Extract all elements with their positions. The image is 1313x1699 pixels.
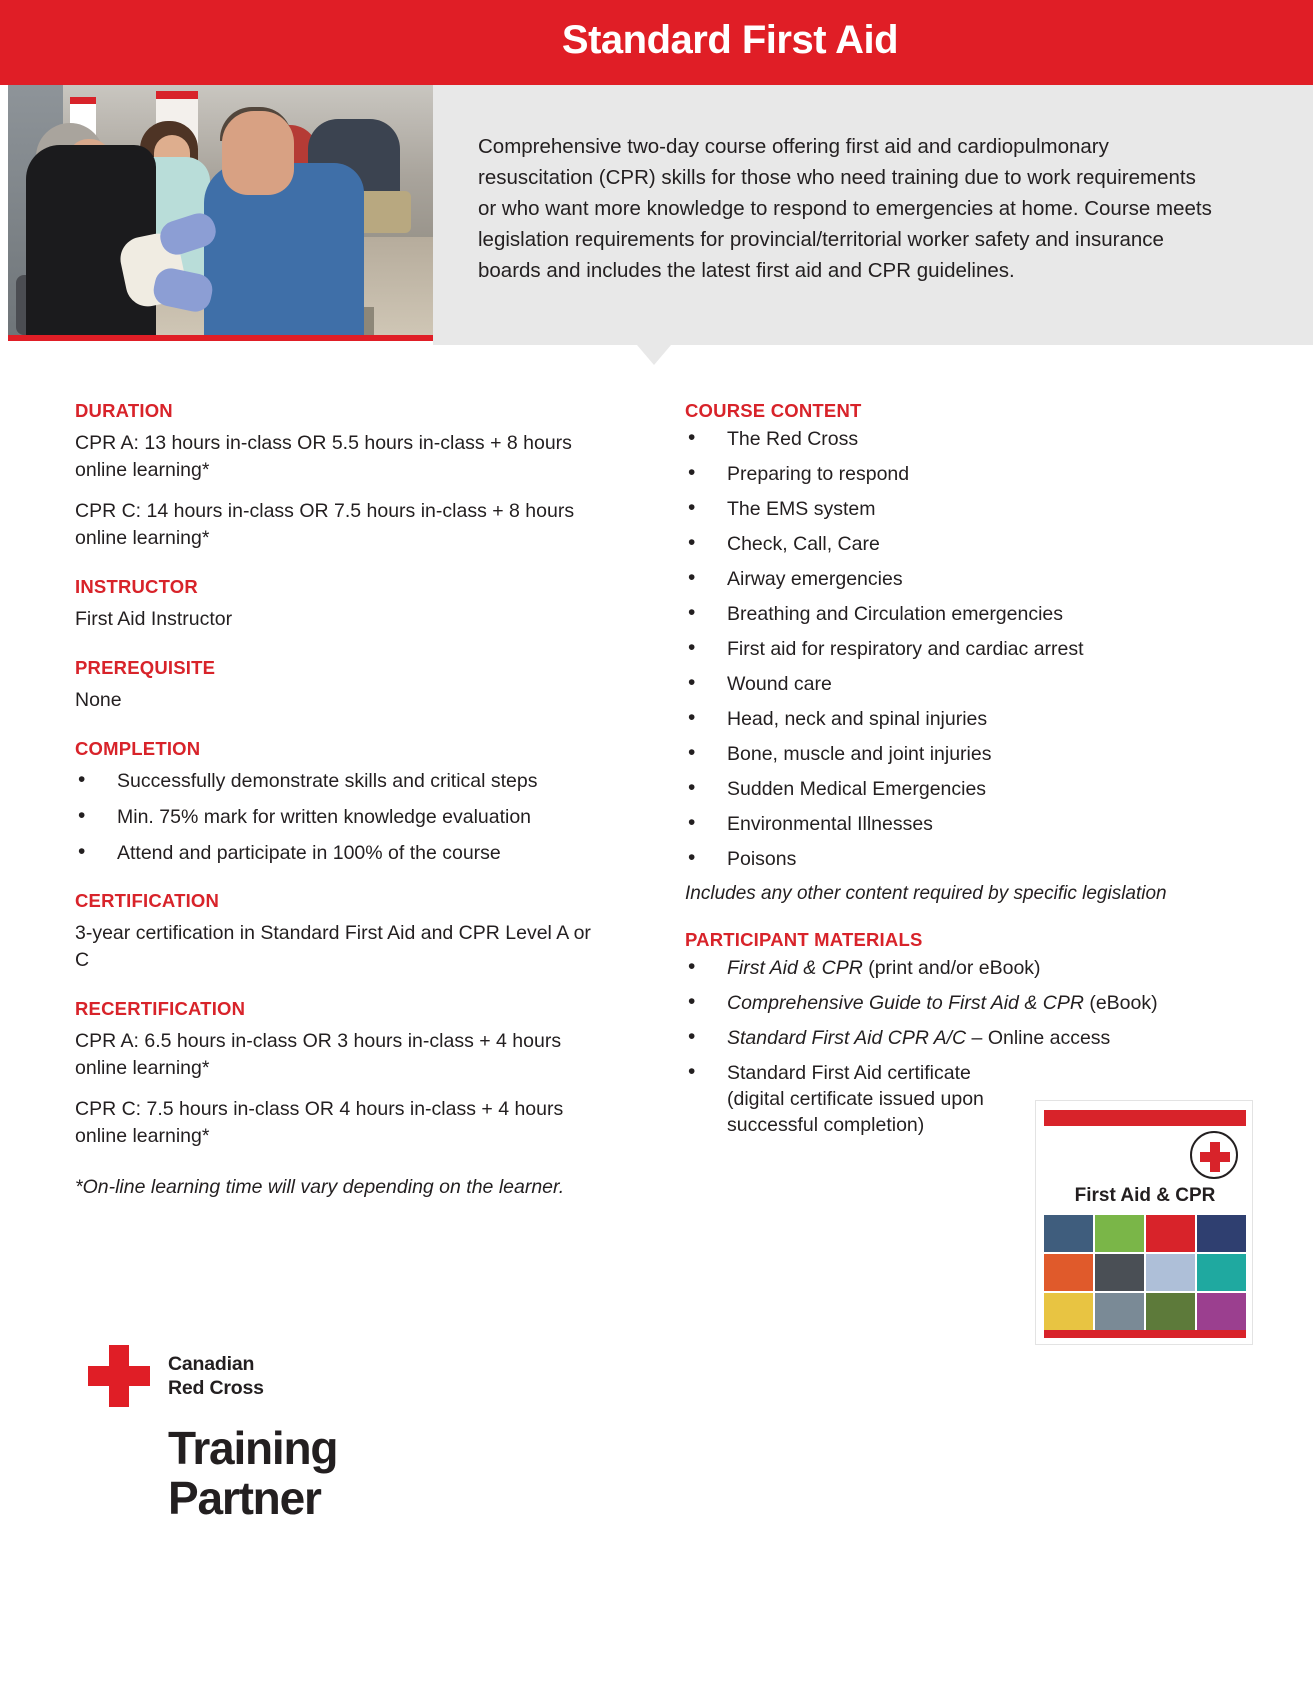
section-certification: CERTIFICATION 3-year certification in St…: [75, 890, 595, 974]
list-item: Airway emergencies: [685, 566, 1225, 592]
intro-panel: Comprehensive two-day course offering fi…: [433, 85, 1313, 345]
grid-tile: [1197, 1293, 1246, 1330]
duration-line-cpr-a: CPR A: 13 hours in-class OR 5.5 hours in…: [75, 430, 595, 484]
online-learning-footnote: *On-line learning time will vary dependi…: [75, 1174, 595, 1201]
material-detail: (eBook): [1084, 992, 1158, 1014]
hero-photo-underline: [8, 335, 433, 341]
section-completion: COMPLETION Successfully demonstrate skil…: [75, 738, 595, 866]
material-title: Standard First Aid CPR A/C: [727, 1027, 966, 1049]
red-cross-logo-icon: [88, 1345, 150, 1407]
book-top-bar: [1044, 1110, 1246, 1126]
list-item: First aid for respiratory and cardiac ar…: [685, 636, 1225, 662]
instructor-heading: INSTRUCTOR: [75, 576, 595, 598]
section-recertification: RECERTIFICATION CPR A: 6.5 hours in-clas…: [75, 998, 595, 1150]
list-item: Sudden Medical Emergencies: [685, 776, 1225, 802]
book-title: First Aid & CPR: [1036, 1185, 1254, 1207]
material-detail: (print and/or eBook): [863, 957, 1041, 979]
prerequisite-value: None: [75, 687, 595, 714]
intro-notch-arrow: [637, 345, 671, 365]
grid-tile: [1197, 1254, 1246, 1291]
intro-paragraph: Comprehensive two-day course offering fi…: [478, 131, 1218, 286]
training-partner-line2: Partner: [168, 1473, 588, 1523]
completion-heading: COMPLETION: [75, 738, 595, 760]
duration-heading: DURATION: [75, 400, 595, 422]
recertification-heading: RECERTIFICATION: [75, 998, 595, 1020]
training-partner-line1: Training: [168, 1423, 588, 1473]
list-item: Standard First Aid CPR A/C – Online acce…: [685, 1025, 1225, 1051]
grid-tile: [1044, 1215, 1093, 1252]
list-item: Successfully demonstrate skills and crit…: [75, 768, 595, 794]
list-item: Poisons: [685, 846, 1225, 872]
grid-tile: [1197, 1215, 1246, 1252]
book-cover-thumbnail: First Aid & CPR: [1035, 1100, 1253, 1345]
material-title: Comprehensive Guide to First Aid & CPR: [727, 992, 1084, 1014]
list-item: Attend and participate in 100% of the co…: [75, 840, 595, 866]
book-photo-grid: [1044, 1215, 1246, 1330]
material-detail: – Online access: [966, 1027, 1110, 1049]
footer-branding: Canadian Red Cross Training Partner: [88, 1345, 588, 1523]
participant-materials-heading: PARTICIPANT MATERIALS: [685, 929, 1225, 951]
list-item: Check, Call, Care: [685, 531, 1225, 557]
recert-line-cpr-a: CPR A: 6.5 hours in-class OR 3 hours in-…: [75, 1028, 595, 1082]
section-prerequisite: PREREQUISITE None: [75, 657, 595, 714]
hero-photo: [8, 85, 433, 335]
canadian-red-cross-roundel-icon: [1190, 1131, 1238, 1179]
section-instructor: INSTRUCTOR First Aid Instructor: [75, 576, 595, 633]
instructor-value: First Aid Instructor: [75, 606, 595, 633]
prerequisite-heading: PREREQUISITE: [75, 657, 595, 679]
grid-tile: [1095, 1293, 1144, 1330]
material-detail: Standard First Aid certificate (digital …: [727, 1062, 984, 1136]
course-content-list: The Red Cross Preparing to respond The E…: [685, 426, 1225, 872]
list-item: Head, neck and spinal injuries: [685, 706, 1225, 732]
org-name-line2: Red Cross: [168, 1376, 264, 1400]
grid-tile: [1146, 1215, 1195, 1252]
list-item: Bone, muscle and joint injuries: [685, 741, 1225, 767]
list-item: Breathing and Circulation emergencies: [685, 601, 1225, 627]
list-item: First Aid & CPR (print and/or eBook): [685, 955, 1225, 981]
list-item: The EMS system: [685, 496, 1225, 522]
intro-row: Comprehensive two-day course offering fi…: [0, 85, 1313, 345]
duration-line-cpr-c: CPR C: 14 hours in-class OR 7.5 hours in…: [75, 498, 595, 552]
list-item: Comprehensive Guide to First Aid & CPR (…: [685, 990, 1225, 1016]
material-title: First Aid & CPR: [727, 957, 863, 979]
grid-tile: [1095, 1215, 1144, 1252]
list-item: Standard First Aid certificate (digital …: [685, 1060, 1015, 1138]
left-column: DURATION CPR A: 13 hours in-class OR 5.5…: [75, 400, 595, 1201]
list-item: Min. 75% mark for written knowledge eval…: [75, 804, 595, 830]
grid-tile: [1044, 1254, 1093, 1291]
recert-line-cpr-c: CPR C: 7.5 hours in-class OR 4 hours in-…: [75, 1096, 595, 1150]
course-content-heading: COURSE CONTENT: [685, 400, 1225, 422]
grid-tile: [1146, 1293, 1195, 1330]
list-item: The Red Cross: [685, 426, 1225, 452]
course-content-legislation-note: Includes any other content required by s…: [685, 881, 1225, 907]
canadian-red-cross-lockup: Canadian Red Cross: [88, 1345, 588, 1407]
document-page: Standard First Aid Comprehensive two-day…: [0, 0, 1313, 1699]
list-item: Preparing to respond: [685, 461, 1225, 487]
header-banner: Standard First Aid: [0, 0, 1313, 85]
grid-tile: [1044, 1293, 1093, 1330]
org-name: Canadian Red Cross: [168, 1352, 264, 1400]
grid-tile: [1146, 1254, 1195, 1291]
right-column: COURSE CONTENT The Red Cross Preparing t…: [685, 400, 1225, 1147]
org-name-line1: Canadian: [168, 1352, 264, 1376]
page-title: Standard First Aid: [430, 18, 1030, 63]
completion-list: Successfully demonstrate skills and crit…: [75, 768, 595, 866]
certification-heading: CERTIFICATION: [75, 890, 595, 912]
training-partner-label: Training Partner: [168, 1423, 588, 1523]
list-item: Wound care: [685, 671, 1225, 697]
section-duration: DURATION CPR A: 13 hours in-class OR 5.5…: [75, 400, 595, 552]
book-bottom-bar: [1044, 1330, 1246, 1338]
section-course-content: COURSE CONTENT The Red Cross Preparing t…: [685, 400, 1225, 907]
list-item: Environmental Illnesses: [685, 811, 1225, 837]
certification-value: 3-year certification in Standard First A…: [75, 920, 595, 974]
grid-tile: [1095, 1254, 1144, 1291]
